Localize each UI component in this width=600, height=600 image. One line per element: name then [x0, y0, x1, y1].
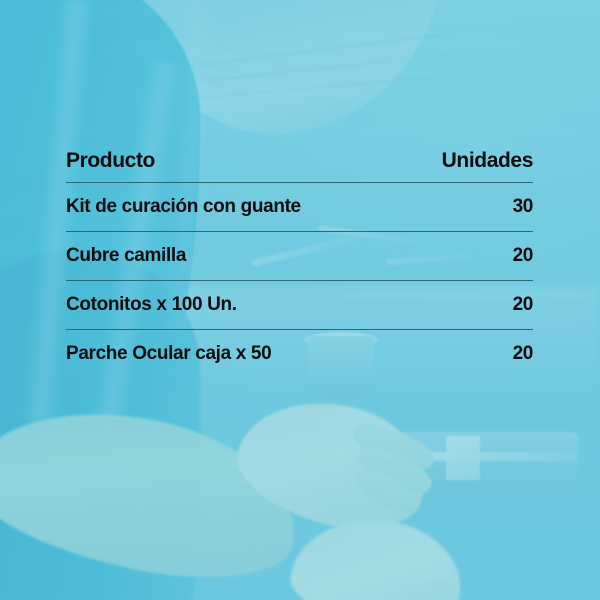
- table-row: Parche Ocular caja x 50 20: [66, 330, 533, 379]
- cell-producto: Cotonitos x 100 Un.: [66, 281, 402, 330]
- cell-producto: Parche Ocular caja x 50: [66, 330, 402, 379]
- table-body: Kit de curación con guante 30 Cubre cami…: [66, 183, 533, 379]
- stock-table: Producto Unidades Kit de curación con gu…: [66, 140, 533, 378]
- column-header-producto: Producto: [66, 140, 402, 183]
- cell-unidades: 20: [402, 232, 533, 281]
- stock-table-container: Producto Unidades Kit de curación con gu…: [66, 140, 533, 378]
- table-row: Cubre camilla 20: [66, 232, 533, 281]
- poster-canvas: Producto Unidades Kit de curación con gu…: [0, 0, 600, 600]
- table-header: Producto Unidades: [66, 140, 533, 183]
- column-header-unidades: Unidades: [402, 140, 533, 183]
- cell-unidades: 20: [402, 281, 533, 330]
- cell-producto: Cubre camilla: [66, 232, 402, 281]
- table-row: Kit de curación con guante 30: [66, 183, 533, 232]
- table-row: Cotonitos x 100 Un. 20: [66, 281, 533, 330]
- table-header-row: Producto Unidades: [66, 140, 533, 183]
- cell-producto: Kit de curación con guante: [66, 183, 402, 232]
- cell-unidades: 20: [402, 330, 533, 379]
- cell-unidades: 30: [402, 183, 533, 232]
